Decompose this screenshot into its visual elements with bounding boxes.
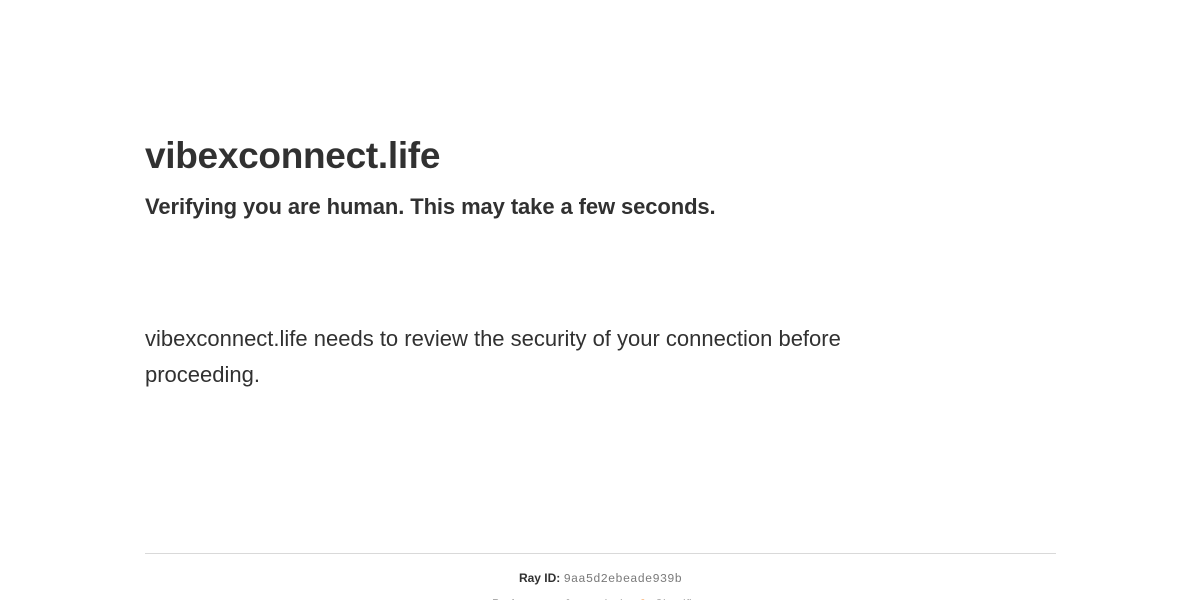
- ray-id-label: Ray ID:: [519, 571, 560, 585]
- challenge-page: vibexconnect.life Verifying you are huma…: [0, 0, 1200, 600]
- challenge-explanation-text: vibexconnect.life needs to review the se…: [145, 321, 945, 393]
- footer-brand-line: Performance & security by Cloudflare: [145, 586, 1056, 600]
- page-title: vibexconnect.life: [145, 134, 440, 178]
- ray-id-line: Ray ID: 9aa5d2ebeade939b: [145, 554, 1056, 586]
- turnstile-widget-container[interactable]: [145, 238, 465, 308]
- ray-id-value: 9aa5d2ebeade939b: [564, 572, 682, 586]
- page-footer: Ray ID: 9aa5d2ebeade939b Performance & s…: [145, 553, 1056, 600]
- verification-status-heading: Verifying you are human. This may take a…: [145, 193, 716, 221]
